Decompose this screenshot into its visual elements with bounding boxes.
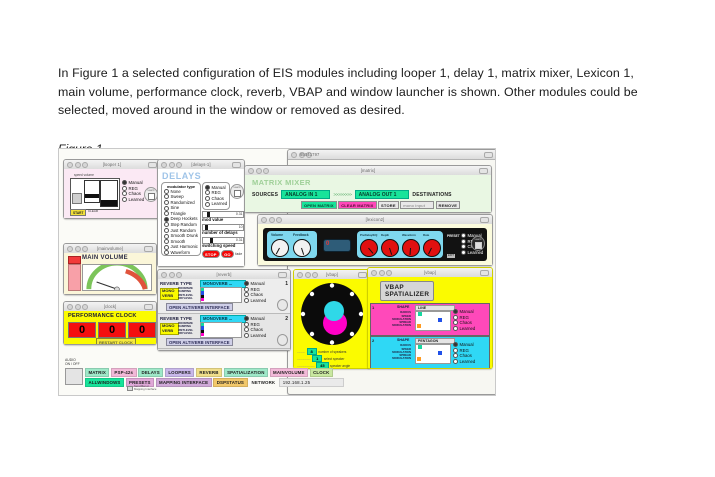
- vbap-body: VBAP SPATIALIZER 1 SHAPE LINE RADIUSSPEE…: [368, 277, 492, 368]
- reverb-mode-label: Learned: [251, 333, 267, 339]
- vbap-channel-index: 2: [372, 338, 374, 343]
- delays-switching-label: switching speed: [202, 243, 235, 248]
- reverb-mode-option[interactable]: Learned: [244, 333, 266, 339]
- reverb-channel-index: 1: [285, 281, 288, 287]
- reverb-slider-labels: ROOMSIZEDAMPINGWETLEVELDRYLEVEL: [178, 287, 193, 300]
- lexicon-display[interactable]: 0: [323, 239, 351, 252]
- toolbar-toggle-icon[interactable]: [484, 152, 493, 158]
- looper-body: speed volume START CLEAR Manual REG Chao…: [64, 169, 160, 218]
- clock-digit[interactable]: 0: [98, 322, 126, 338]
- knob-pointer-icon: [389, 248, 392, 255]
- window-speakers[interactable]: [vbap] --------: [293, 269, 371, 369]
- radio-icon[interactable]: [244, 316, 249, 321]
- lexicon-learn-button[interactable]: Learn: [471, 236, 485, 251]
- radio-icon[interactable]: [164, 200, 169, 205]
- radio-icon[interactable]: [164, 211, 169, 216]
- lexicon-knob[interactable]: [402, 239, 420, 257]
- delays-modulator-option[interactable]: Waveform: [164, 250, 200, 256]
- reverb-mono-button[interactable]: MONOVERB: [160, 288, 179, 300]
- looper-fader-2-handle[interactable]: [101, 200, 117, 206]
- lexicon-window-title: [lexicon2]: [258, 217, 492, 222]
- looper-start-button[interactable]: START: [70, 209, 86, 216]
- launcher-button[interactable]: MATRIX: [85, 368, 109, 377]
- vbap-mode-radios[interactable]: Manual REG Chaos Learned: [453, 309, 475, 331]
- radio-icon[interactable]: [461, 250, 466, 255]
- matrix-body: MATRIX MIXER SOURCES ANALOG IN 1 >>>>>>>…: [245, 175, 491, 212]
- radio-icon[interactable]: [244, 292, 249, 297]
- reverb-open-altiverb-button[interactable]: OPEN ALTIVERB INTERFACE: [166, 303, 233, 311]
- delays-mode-learned[interactable]: Learned: [205, 201, 229, 207]
- document-text-block: In Figure 1 a selected configuration of …: [58, 64, 640, 156]
- toolbar-toggle-icon[interactable]: [144, 246, 153, 252]
- dotted-rule: ----------------------: [297, 364, 315, 368]
- launcher-button[interactable]: MAINVOLUME: [270, 368, 309, 377]
- radio-icon[interactable]: [122, 197, 127, 202]
- launcher-button[interactable]: REVERB: [196, 368, 222, 377]
- gauge-arc-icon: [83, 265, 151, 290]
- radio-icon[interactable]: [453, 326, 458, 331]
- reverb-slider-label: DRYLEVEL: [178, 332, 193, 335]
- radio-icon[interactable]: [453, 315, 458, 320]
- radio-icon[interactable]: [164, 228, 169, 233]
- radio-icon[interactable]: [453, 359, 458, 364]
- vbap-slider-handle[interactable]: [417, 324, 421, 328]
- speakers-select-label: select speaker: [324, 357, 345, 361]
- lexicon-display-value: 0: [326, 241, 329, 247]
- matrix-arrows: >>>>>>>>: [333, 192, 351, 197]
- lexicon-feedback-knob[interactable]: [293, 239, 311, 257]
- radio-icon[interactable]: [244, 322, 249, 327]
- reverb-sliders[interactable]: [200, 322, 242, 338]
- launcher-button[interactable]: LOOPERS: [165, 368, 195, 377]
- radio-icon[interactable]: [164, 194, 169, 199]
- reverb-slider-labels: ROOMSIZEDAMPINGWETLEVELDRYLEVEL: [178, 322, 193, 335]
- lexicon-knob-label: Rate: [423, 233, 429, 237]
- reverb-slider-handle[interactable]: [201, 333, 204, 336]
- lexicon-knob-label: PreDelay/EQ: [360, 233, 377, 237]
- looper-window-title: [looper 1]: [64, 162, 160, 167]
- window-matrix[interactable]: [matrix] MATRIX MIXER SOURCES ANALOG IN …: [244, 165, 492, 213]
- window-launcher: AUDIO ON / OFF MATRIXPSP-42sDELAYSLOOPER…: [65, 368, 491, 392]
- delays-heading: DELAYS: [162, 171, 201, 181]
- lexicon-knobs[interactable]: [357, 239, 443, 259]
- radio-icon[interactable]: [453, 348, 458, 353]
- radio-icon[interactable]: [453, 309, 458, 314]
- slider-handle[interactable]: [205, 225, 208, 229]
- launcher-button[interactable]: SPATIALIZATION: [224, 368, 268, 377]
- launcher-button[interactable]: MAPPING INTERFACE: [156, 378, 212, 387]
- lexicon-knob[interactable]: [423, 239, 441, 257]
- vbap-channel: 2 SHAPE PENTAGON RADIUSSPEEDMODULATIONSP…: [370, 336, 490, 368]
- matrix-routing-row: SOURCES ANALOG IN 1 >>>>>>>> ANALOG OUT …: [252, 190, 485, 199]
- launcher-row-1[interactable]: MATRIXPSP-42sDELAYSLOOPERSREVERBSPATIALI…: [85, 368, 491, 377]
- window-delays[interactable]: [delays-1] DELAYS modulator type None Sw…: [157, 159, 245, 267]
- speakers-select-value[interactable]: 1: [312, 355, 322, 362]
- lexicon-knob[interactable]: [381, 239, 399, 257]
- matrix-destinations-label: DESTINATIONS: [412, 192, 451, 198]
- checkbox-label: Send Bar or Mapping Interface: [134, 385, 156, 391]
- window-mainvolume[interactable]: [mainvolume] MAIN VOLUME: [63, 243, 157, 295]
- delays-go-button[interactable]: GO: [221, 250, 234, 258]
- launcher-button[interactable]: DELAYS: [138, 368, 163, 377]
- figure-screenshot: 65041797 [looper 1] speed volume: [58, 148, 496, 396]
- radio-icon[interactable]: [244, 287, 249, 292]
- body-paragraph: In Figure 1 a selected configuration of …: [58, 64, 640, 120]
- mainvolume-level-bar[interactable]: [68, 264, 81, 291]
- window-reverb[interactable]: [reverb] REVERB TYPE MONOVERB ... MONOVE…: [157, 269, 291, 351]
- slider-handle[interactable]: [210, 238, 213, 242]
- speakers-count-label: number of speakers: [318, 350, 346, 354]
- radio-icon[interactable]: [244, 281, 249, 286]
- delays-modulator-options[interactable]: None Sweep Randomized Sine Triangle Deep…: [162, 189, 200, 256]
- vbap-slider-labels: RADIUSSPEEDMODULATIONSPREADMODULATION: [381, 311, 411, 327]
- radio-icon[interactable]: [164, 189, 169, 194]
- looper-mode-learned[interactable]: Learned: [122, 197, 144, 203]
- reverb-open-altiverb-button[interactable]: OPEN ALTIVERB INTERFACE: [166, 338, 233, 346]
- toolbar-toggle-icon[interactable]: [480, 270, 489, 276]
- vbap-sliders[interactable]: [415, 344, 451, 364]
- speakers-count-row: ---------- 8 number of speakers: [297, 348, 346, 355]
- dotted-rule: -----------------: [297, 357, 311, 361]
- toolbar-toggle-icon[interactable]: [232, 162, 241, 168]
- radio-icon[interactable]: [164, 245, 169, 250]
- delays-mod-value-number: 0.31: [236, 212, 243, 216]
- reverb-mode-label: Learned: [251, 298, 267, 304]
- radio-icon[interactable]: [205, 196, 210, 201]
- matrix-button-row[interactable]: OPEN MATRIX CLEAR MATRIX STORE mono inpu…: [301, 201, 460, 209]
- speakers-angle-label: speaker angle: [330, 364, 350, 368]
- reverb-slider-label: DRYLEVEL: [178, 297, 193, 300]
- launcher-button[interactable]: CLOCK: [310, 368, 333, 377]
- vbap-mode-option[interactable]: Learned: [453, 326, 475, 332]
- vbap-heading-line2: SPATIALIZER: [385, 291, 429, 298]
- lexicon-edit-button[interactable]: EDIT: [447, 254, 455, 258]
- delays-transport[interactable]: STOP GO fade: [202, 250, 242, 258]
- mainvolume-heading: MAIN VOLUME: [82, 255, 128, 261]
- lexicon-knob-label: Waveform: [402, 233, 416, 237]
- toolbar-toggle-icon[interactable]: [358, 272, 367, 278]
- knob-pointer-icon: [428, 248, 432, 255]
- radio-icon[interactable]: [122, 186, 127, 191]
- lexicon-preset-label: PRESET: [447, 235, 459, 238]
- window-lexicon[interactable]: [lexicon2] Volume Feedback 0: [257, 214, 493, 266]
- lexicon-body: Volume Feedback 0 PreDelay/EQDepthWavefo…: [258, 224, 492, 265]
- looper-display[interactable]: [70, 178, 120, 210]
- delays-mod-value-label: mod value: [202, 217, 223, 222]
- dotted-rule: ----------: [297, 350, 305, 354]
- delays-learn-button[interactable]: Learn: [230, 184, 244, 199]
- delays-modulator-list[interactable]: modulator type None Sweep Randomized Sin…: [161, 182, 201, 256]
- vbap-mode-label: Learned: [460, 326, 476, 332]
- clock-body: PERFORMANCE CLOCK 0 0 0 RESTART CLOCK: [64, 311, 156, 344]
- vbap-slider-handle[interactable]: [418, 312, 422, 316]
- lexicon-knob-label: Depth: [381, 233, 389, 237]
- checkbox-icon[interactable]: [127, 386, 133, 392]
- delays-mode-box[interactable]: Manual REG Chaos Learned: [202, 182, 230, 210]
- vbap-window-title: [vbap]: [368, 270, 492, 275]
- reverb-mode-option[interactable]: Learned: [244, 298, 266, 304]
- learn-square-icon[interactable]: [234, 190, 241, 197]
- toolbar-toggle-icon[interactable]: [148, 162, 157, 168]
- knob-pointer-icon: [301, 248, 304, 255]
- delays-mode-label: Learned: [212, 201, 228, 207]
- root-window-title: 65041797: [288, 152, 496, 157]
- matrix-mono-select[interactable]: mono input: [400, 201, 434, 209]
- lexicon-volume-label: Volume: [271, 233, 283, 237]
- clock-digits: 0 0 0: [68, 322, 156, 338]
- knob-pointer-icon: [368, 248, 373, 254]
- reverb-sliders[interactable]: [200, 287, 242, 303]
- vbap-slider-labels: RADIUSSPEEDMODULATIONSPREADMODULATION: [381, 344, 411, 360]
- delays-number-label: number of delays: [202, 230, 238, 235]
- radio-icon[interactable]: [461, 239, 466, 244]
- delays-body: DELAYS modulator type None Sweep Randomi…: [158, 169, 244, 266]
- radio-icon[interactable]: [205, 190, 210, 195]
- looper-mode-radios[interactable]: Manual REG Chaos Learned: [122, 180, 144, 202]
- launcher-button[interactable]: DSPSTATUS: [213, 378, 247, 387]
- clock-digit[interactable]: 0: [128, 322, 156, 338]
- mainvolume-body: MAIN VOLUME: [64, 253, 156, 294]
- network-label: NETWORK: [249, 379, 278, 386]
- radio-icon[interactable]: [244, 333, 249, 338]
- vbap-slider-handle[interactable]: [438, 318, 442, 322]
- audio-toggle-label: AUDIO ON / OFF: [65, 358, 80, 366]
- clock-restart-button[interactable]: RESTART CLOCK: [96, 338, 136, 344]
- radio-icon[interactable]: [164, 217, 169, 222]
- lexicon-right-section: PreDelay/EQDepthWaveformRate: [357, 231, 443, 258]
- radio-icon[interactable]: [164, 234, 169, 239]
- matrix-sources-label: SOURCES: [252, 192, 278, 198]
- lexicon-knob[interactable]: [360, 239, 378, 257]
- radio-icon[interactable]: [122, 191, 127, 196]
- mainvolume-window-title: [mainvolume]: [64, 246, 156, 251]
- speakers-count-value[interactable]: 8: [307, 348, 317, 355]
- toolbar-toggle-icon[interactable]: [479, 168, 488, 174]
- looper-fader-1[interactable]: [84, 180, 100, 203]
- radio-icon[interactable]: [453, 342, 458, 347]
- mainvolume-indicator: [68, 256, 81, 264]
- window-vbap[interactable]: [vbap] VBAP SPATIALIZER 1 SHAPE LINE RAD…: [367, 267, 493, 369]
- matrix-clear-button[interactable]: CLEAR MATRIX: [338, 201, 376, 209]
- reverb-mode-radios[interactable]: Manual REG Chaos Learned: [244, 316, 266, 338]
- vbap-shape-label: SHAPE: [397, 338, 409, 342]
- speakers-body: ---------- 8 number of speakers --------…: [294, 279, 370, 368]
- network-address-input[interactable]: 192.168.1.25: [279, 378, 344, 387]
- lexicon-volume-knob[interactable]: [271, 239, 289, 257]
- reverb-mode-radios[interactable]: Manual REG Chaos Learned: [244, 281, 266, 303]
- reverb-mono-button[interactable]: MONOVERB: [160, 323, 179, 335]
- vbap-heading-line1: VBAP: [385, 284, 429, 291]
- vbap-heading-box: VBAP SPATIALIZER: [380, 281, 434, 301]
- vbap-mode-radios[interactable]: Manual REG Chaos Learned: [453, 342, 475, 364]
- matrix-destination-select[interactable]: ANALOG OUT 1: [355, 190, 410, 199]
- delays-fade-label[interactable]: fade: [235, 252, 242, 256]
- checkbox-label-line2: Mapping Interface: [134, 388, 156, 391]
- clock-digit[interactable]: 0: [68, 322, 96, 338]
- radio-icon[interactable]: [164, 222, 169, 227]
- speakers-select-row: ----------------- 1 select speaker: [297, 355, 344, 362]
- looper-thumb[interactable]: [72, 193, 82, 204]
- launcher-button[interactable]: ALLWINDOWS: [85, 378, 124, 387]
- clock-heading: PERFORMANCE CLOCK: [68, 313, 137, 319]
- window-clock[interactable]: [clock] PERFORMANCE CLOCK 0 0 0 RESTART …: [63, 301, 157, 345]
- radio-icon[interactable]: [164, 250, 169, 255]
- looper-clear-label[interactable]: CLEAR: [88, 209, 98, 213]
- radio-icon[interactable]: [453, 353, 458, 358]
- knob-pointer-icon: [276, 248, 280, 255]
- speaker-circle-icon[interactable]: [297, 281, 367, 347]
- vbap-channel-index: 1: [372, 305, 374, 310]
- matrix-store-button[interactable]: STORE: [378, 201, 399, 209]
- delays-modulator-label: Waveform: [171, 250, 190, 256]
- speaker-layout-view[interactable]: [297, 281, 367, 347]
- reverb-channel-index: 2: [285, 316, 288, 322]
- looper-learn-button[interactable]: Learn: [144, 187, 158, 202]
- radio-icon[interactable]: [164, 206, 169, 211]
- delays-modulator-header: modulator type: [162, 183, 200, 189]
- reverb-channel: REVERB TYPE MONOVERB ... MONOVERB ROOMSI…: [158, 279, 290, 314]
- reverb-learn-button[interactable]: [277, 334, 288, 346]
- reverb-channel: REVERB TYPE MONOVERB ... MONOVERB ROOMSI…: [158, 314, 290, 349]
- radio-icon[interactable]: [205, 185, 210, 190]
- matrix-source-select[interactable]: ANALOG IN 1: [281, 190, 330, 199]
- looper-mode-label: Learned: [129, 197, 145, 203]
- radio-icon[interactable]: [244, 327, 249, 332]
- matrix-heading: MATRIX MIXER: [252, 178, 311, 187]
- window-looper[interactable]: [looper 1] speed volume START CLEAR Manu…: [63, 159, 161, 219]
- delays-mode-radios[interactable]: Manual REG Chaos Learned: [203, 183, 229, 207]
- slider-handle[interactable]: [207, 212, 210, 216]
- vbap-channel: 1 SHAPE LINE RADIUSSPEEDMODULATIONSPREAD…: [370, 303, 490, 336]
- lexicon-left-section: Volume Feedback: [267, 231, 317, 258]
- vbap-slider-handle[interactable]: [418, 345, 422, 349]
- vbap-sliders[interactable]: [415, 311, 451, 331]
- looper-panel-label: speed volume: [74, 173, 94, 177]
- vbap-slider-handle[interactable]: [417, 357, 421, 361]
- mainvolume-gauge[interactable]: [82, 264, 152, 291]
- audio-toggle-button[interactable]: [65, 368, 83, 385]
- vbap-mode-option[interactable]: Learned: [453, 359, 475, 365]
- reverb-window-title: [reverb]: [158, 272, 290, 277]
- looper-fader-1-handle[interactable]: [85, 194, 99, 198]
- matrix-remove-button[interactable]: REMOVE: [436, 201, 461, 209]
- vbap-shape-label: SHAPE: [397, 305, 409, 309]
- vbap-slider-label: SPREADMODULATION: [381, 321, 411, 327]
- launcher-checkbox-row[interactable]: Send Bar or Mapping Interface: [127, 385, 156, 391]
- radio-icon[interactable]: [164, 239, 169, 244]
- learn-square-icon[interactable]: [475, 242, 482, 249]
- delays-number-value: 10: [239, 225, 243, 229]
- toolbar-toggle-icon[interactable]: [144, 304, 153, 310]
- reverb-slider-handle[interactable]: [201, 298, 204, 301]
- matrix-window-title: [matrix]: [245, 168, 491, 173]
- knob-pointer-icon: [410, 248, 412, 255]
- audio-label-line2: ON / OFF: [65, 362, 80, 366]
- clock-window-title: [clock]: [64, 304, 156, 309]
- radio-icon[interactable]: [205, 202, 210, 207]
- lexicon-faceplate: Volume Feedback 0 PreDelay/EQDepthWavefo…: [263, 228, 487, 261]
- toolbar-toggle-icon[interactable]: [278, 272, 287, 278]
- vbap-slider-handle[interactable]: [438, 351, 442, 355]
- lexicon-feedback-label: Feedback: [293, 233, 309, 237]
- radio-icon[interactable]: [453, 320, 458, 325]
- learn-square-icon[interactable]: [148, 193, 155, 200]
- matrix-open-button[interactable]: OPEN MATRIX: [301, 201, 337, 209]
- reverb-body: REVERB TYPE MONOVERB ... MONOVERB ROOMSI…: [158, 279, 290, 350]
- delays-switching-value: 0.31: [236, 238, 243, 242]
- launcher-button[interactable]: PSP-42s: [111, 368, 137, 377]
- radio-icon[interactable]: [122, 180, 127, 185]
- toolbar-toggle-icon[interactable]: [480, 217, 489, 223]
- looper-fader-2[interactable]: [100, 180, 118, 207]
- vbap-slider-label: SPREADMODULATION: [381, 354, 411, 360]
- reverb-learn-button[interactable]: [277, 299, 288, 311]
- vbap-mode-label: Learned: [460, 359, 476, 365]
- radio-icon[interactable]: [461, 244, 466, 249]
- radio-icon[interactable]: [461, 233, 466, 238]
- delays-stop-button[interactable]: STOP: [202, 250, 220, 258]
- radio-icon[interactable]: [244, 298, 249, 303]
